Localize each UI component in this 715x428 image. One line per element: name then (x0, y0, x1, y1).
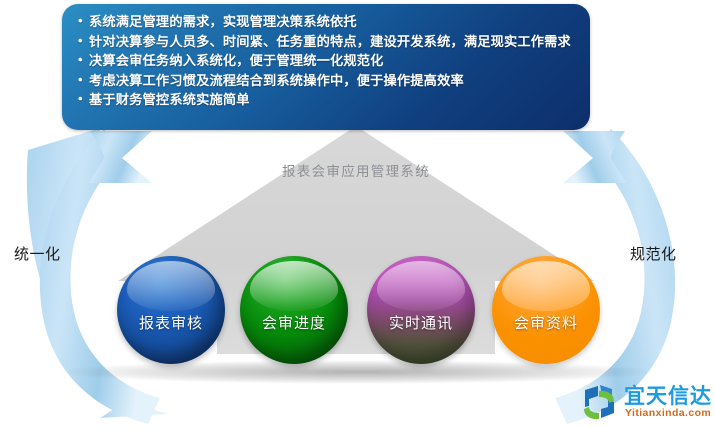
summary-callout-box: 系统满足管理的需求，实现管理决策系统依托 针对决算参与人员多、时间紧、任务重的特… (62, 4, 590, 130)
sphere-glare-icon (377, 261, 466, 311)
logo-mark-icon (578, 382, 622, 422)
callout-bullet: 考虑决算工作习惯及流程结合到系统操作中，便于操作提高效率 (78, 71, 576, 91)
sphere-realtime-messaging[interactable]: 实时通讯 (367, 256, 475, 364)
sphere-review-progress[interactable]: 会审进度 (240, 256, 348, 364)
company-logo[interactable]: 宜天信达 Yitianxinda.com (578, 382, 712, 426)
sphere-label: 会审资料 (492, 312, 600, 333)
sphere-report-review[interactable]: 报表审核 (117, 256, 225, 364)
sphere-label: 会审进度 (240, 312, 348, 333)
slide-canvas: 系统满足管理的需求，实现管理决策系统依托 针对决算参与人员多、时间紧、任务重的特… (0, 0, 715, 428)
callout-bullet: 针对决算参与人员多、时间紧、任务重的特点，建设开发系统，满足现实工作需求 (78, 32, 576, 52)
sphere-label: 实时通讯 (367, 312, 475, 333)
sphere-glare-icon (502, 261, 591, 311)
callout-bullet: 系统满足管理的需求，实现管理决策系统依托 (78, 12, 576, 32)
right-side-label: 规范化 (630, 243, 677, 264)
sphere-label: 报表审核 (117, 312, 225, 333)
left-side-label: 统一化 (14, 243, 61, 264)
sphere-glare-icon (127, 261, 216, 311)
house-title: 报表会审应用管理系统 (231, 160, 481, 180)
sphere-glare-icon (250, 261, 339, 311)
callout-bullet: 决算会审任务纳入系统化，便于管理统一化规范化 (78, 51, 576, 71)
ground-shadow (57, 360, 657, 384)
logo-domain: Yitianxinda.com (625, 407, 711, 419)
logo-company-name: 宜天信达 (624, 380, 712, 410)
callout-bullet-list: 系统满足管理的需求，实现管理决策系统依托 针对决算参与人员多、时间紧、任务重的特… (78, 12, 576, 110)
callout-bullet: 基于财务管控系统实施简单 (78, 90, 576, 110)
sphere-review-materials[interactable]: 会审资料 (492, 256, 600, 364)
